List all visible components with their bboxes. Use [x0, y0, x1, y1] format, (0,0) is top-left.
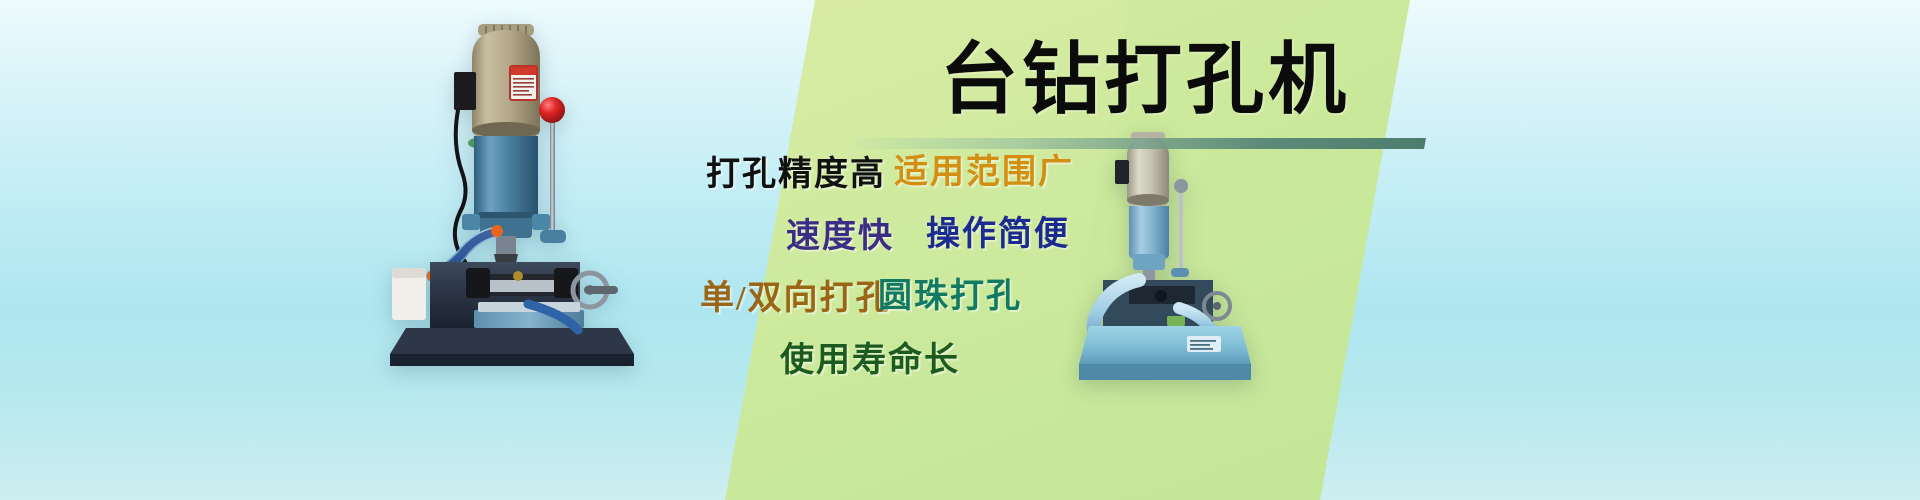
feature-label-precision: 打孔精度高 — [706, 146, 886, 195]
feature-row-2b: 操作简便 — [926, 206, 1070, 255]
feature-label-fast-speed: 速度快 — [786, 208, 894, 257]
feature-row-2a: 速度快 — [786, 208, 894, 257]
page-title: 台钻打孔机 — [940, 36, 1350, 124]
feature-row-3b: 圆珠打孔 — [878, 268, 1022, 317]
feature-label-bead-drilling: 圆珠打孔 — [878, 268, 1022, 317]
feature-label-long-lifespan: 使用寿命长 — [780, 332, 960, 381]
feature-label-wide-range: 适用范围广 — [894, 144, 1074, 193]
feature-list: 打孔精度高 适用范围广 速度快 操作简便 单/双向打孔 圆珠打孔 使用寿命长 — [700, 132, 1420, 372]
feature-row-1b: 适用范围广 — [894, 144, 1074, 193]
left-machine-photo — [378, 18, 658, 368]
feature-label-single-double-drilling: 单/双向打孔 — [700, 270, 891, 319]
product-banner: 台钻打孔机 打孔精度高 适用范围广 速度快 操作简便 单/双向打孔 圆珠打孔 使… — [0, 0, 1920, 500]
feature-row-1a: 打孔精度高 — [706, 146, 886, 195]
feature-label-easy-operation: 操作简便 — [926, 206, 1070, 255]
feature-row-3a: 单/双向打孔 — [700, 270, 891, 319]
feature-row-4: 使用寿命长 — [780, 332, 960, 381]
